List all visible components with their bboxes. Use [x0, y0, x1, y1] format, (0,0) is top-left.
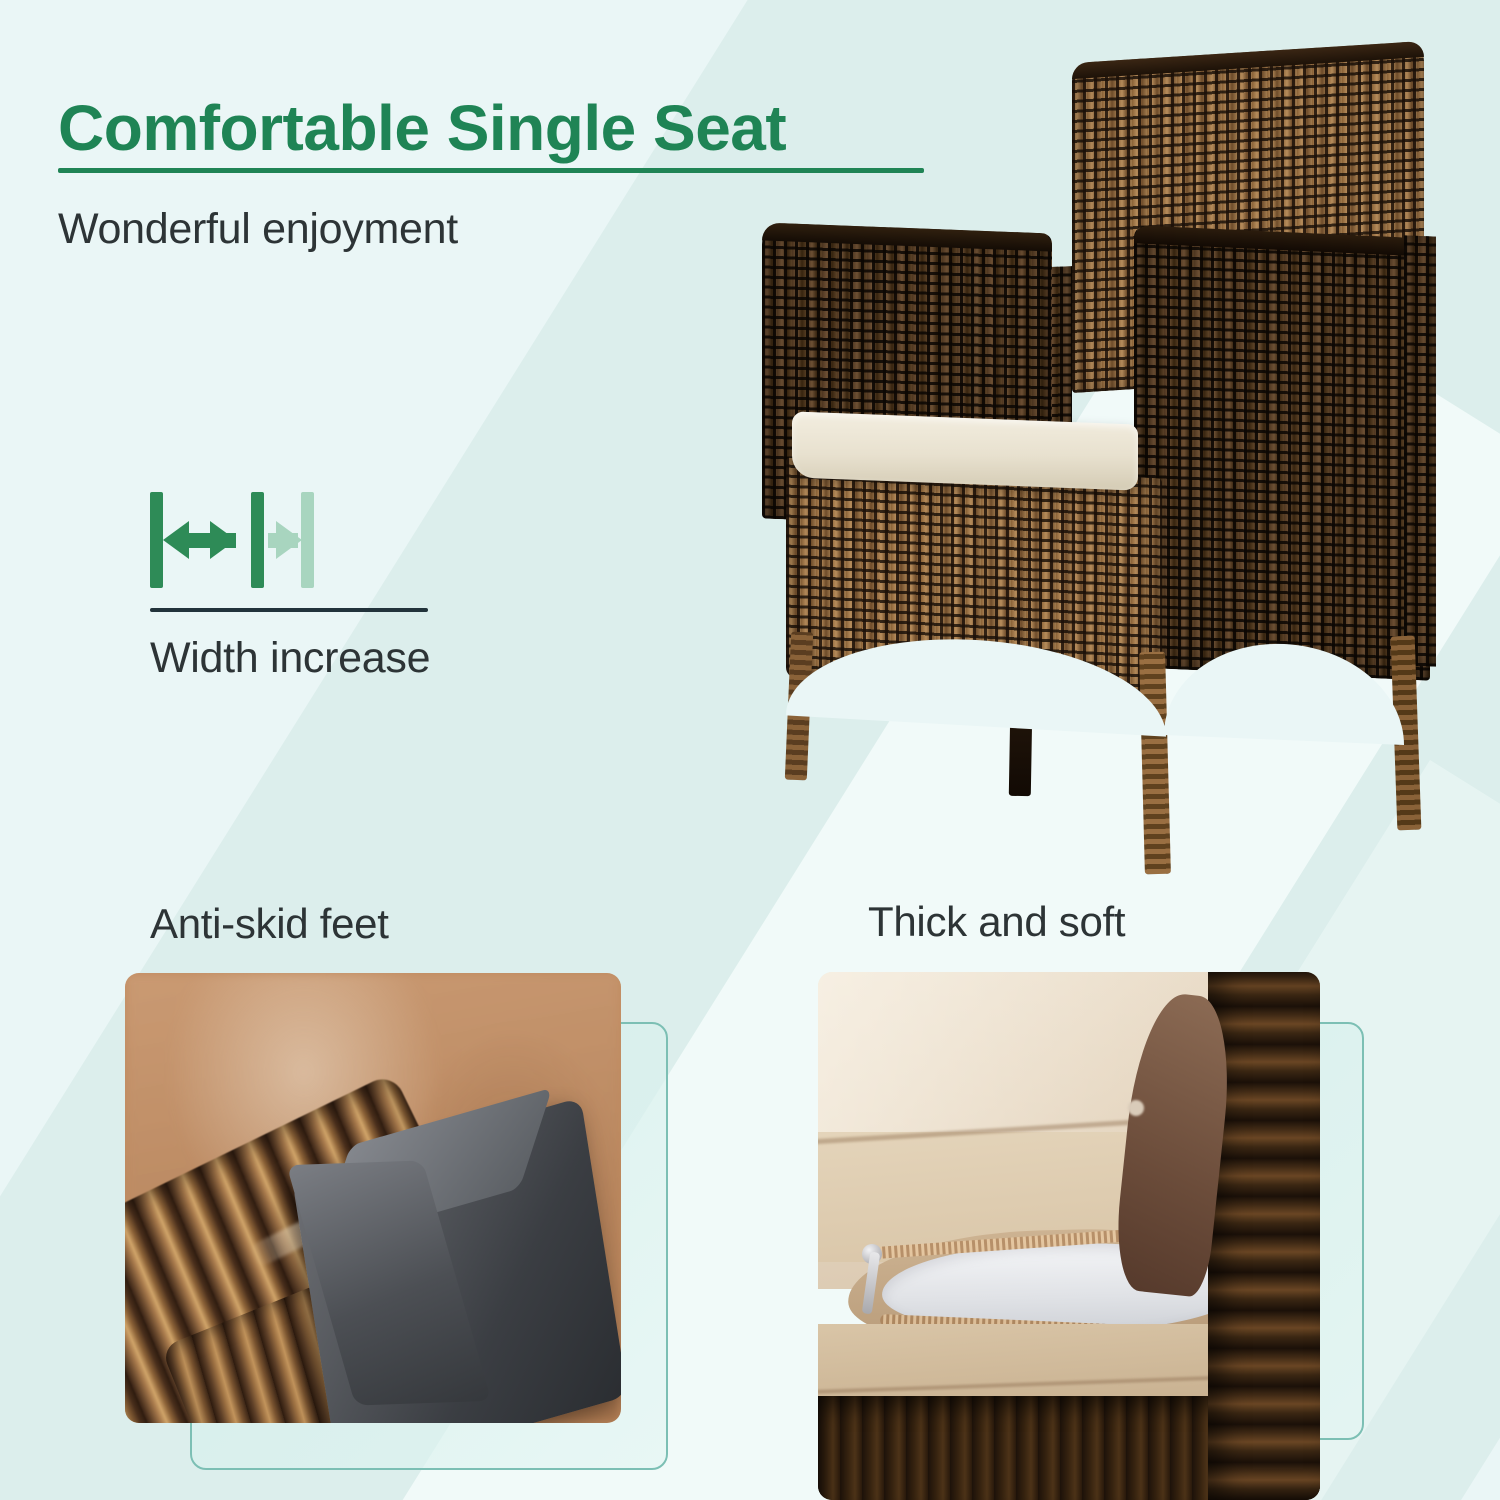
anti-skid-feet-photo [125, 973, 621, 1423]
caption-thick-and-soft: Thick and soft [868, 898, 1125, 946]
title-underline [58, 168, 924, 173]
caption-anti-skid-feet: Anti-skid feet [150, 900, 389, 948]
width-bar-middle [251, 492, 264, 588]
feature-divider [150, 608, 428, 612]
arrow-head-extension-icon [276, 521, 302, 559]
width-increase-icon [150, 492, 450, 592]
page-subtitle: Wonderful enjoyment [58, 205, 924, 254]
chair-arm-right [1134, 225, 1430, 680]
header-block: Comfortable Single Seat Wonderful enjoym… [58, 96, 924, 254]
chair-rear-post [1404, 235, 1436, 666]
width-bar-left [150, 492, 163, 588]
chair-leg-front-right [1139, 652, 1171, 875]
page-title: Comfortable Single Seat [58, 96, 924, 160]
cushion-fold-highlight [1128, 1100, 1144, 1116]
arrow-head-right-icon [210, 521, 236, 559]
chair-seat-cushion [792, 411, 1138, 490]
thick-soft-cushion-photo [818, 972, 1320, 1500]
feature-width-label: Width increase [150, 634, 570, 683]
feature-width-increase: Width increase [150, 492, 570, 683]
width-bar-extended [301, 492, 314, 588]
